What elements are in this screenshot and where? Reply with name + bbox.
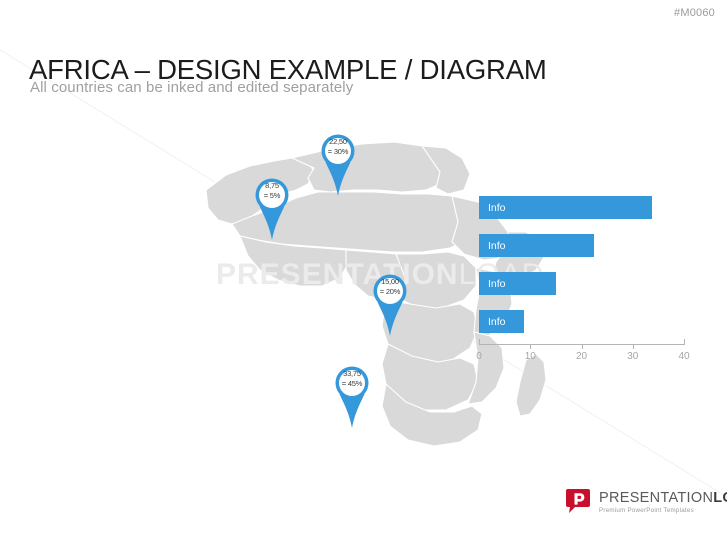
x-axis-tick-label: 0 xyxy=(476,351,482,362)
map-pin-percent: = 45% xyxy=(329,379,375,389)
speech-bubble-logo-icon xyxy=(565,488,591,514)
map-pin[interactable]: 22,50= 30% xyxy=(315,128,361,198)
x-axis-tick-label: 10 xyxy=(525,351,536,362)
bar[interactable]: Info xyxy=(479,310,524,333)
x-axis-tick xyxy=(530,344,531,349)
presentationload-logo[interactable]: PRESENTATIONLOAD® Premium PowerPoint Tem… xyxy=(565,487,727,514)
x-axis-tick-label: 30 xyxy=(627,351,638,362)
bar-label: Info xyxy=(479,278,506,290)
bar[interactable]: Info xyxy=(479,234,594,257)
logo-tagline: Premium PowerPoint Templates xyxy=(599,507,727,514)
logo-wordmark: PRESENTATIONLOAD® xyxy=(599,487,727,506)
map-pin-value: 8,75 xyxy=(249,181,295,191)
logo-text-block: PRESENTATIONLOAD® Premium PowerPoint Tem… xyxy=(599,487,727,514)
axis-cap-start xyxy=(479,339,480,345)
map-pin-label: 8,75= 5% xyxy=(249,181,295,200)
map-pin[interactable]: 33,75= 45% xyxy=(329,360,375,430)
bar-label: Info xyxy=(479,316,506,328)
map-pin-label: 33,75= 45% xyxy=(329,369,375,388)
logo-name-regular: PRESENTATION xyxy=(599,490,713,506)
map-pin-percent: = 20% xyxy=(367,287,413,297)
x-axis-tick-label: 20 xyxy=(576,351,587,362)
map-pin-value: 33,75 xyxy=(329,369,375,379)
logo-name-bold: LOAD xyxy=(713,490,727,506)
x-axis-tick-label: 40 xyxy=(678,351,689,362)
map-pin[interactable]: 15,00= 20% xyxy=(367,268,413,338)
map-pin-percent: = 30% xyxy=(315,147,361,157)
axis-cap-end xyxy=(684,339,685,345)
slide-id-code: #M0060 xyxy=(674,7,715,19)
x-axis-tick xyxy=(633,344,634,349)
map-pin-percent: = 5% xyxy=(249,191,295,201)
bar-row[interactable]: Info xyxy=(479,196,652,219)
bar-label: Info xyxy=(479,202,506,214)
map-pin[interactable]: 8,75= 5% xyxy=(249,172,295,242)
bar-label: Info xyxy=(479,240,506,252)
x-axis-tick xyxy=(582,344,583,349)
bar-row[interactable]: Info xyxy=(479,234,594,257)
map-pin-label: 15,00= 20% xyxy=(367,277,413,296)
bar-row[interactable]: Info xyxy=(479,272,556,295)
page-subtitle: All countries can be inked and edited se… xyxy=(30,79,353,96)
bar-chart[interactable]: InfoInfoInfoInfo 010203040 xyxy=(479,196,685,356)
map-pin-value: 15,00 xyxy=(367,277,413,287)
bar[interactable]: Info xyxy=(479,272,556,295)
map-pin-label: 22,50= 30% xyxy=(315,137,361,156)
bar-row[interactable]: Info xyxy=(479,310,524,333)
map-pin-value: 22,50 xyxy=(315,137,361,147)
bar[interactable]: Info xyxy=(479,196,652,219)
slide-canvas: #M0060 AFRICA – DESIGN EXAMPLE / DIAGRAM… xyxy=(0,0,727,545)
